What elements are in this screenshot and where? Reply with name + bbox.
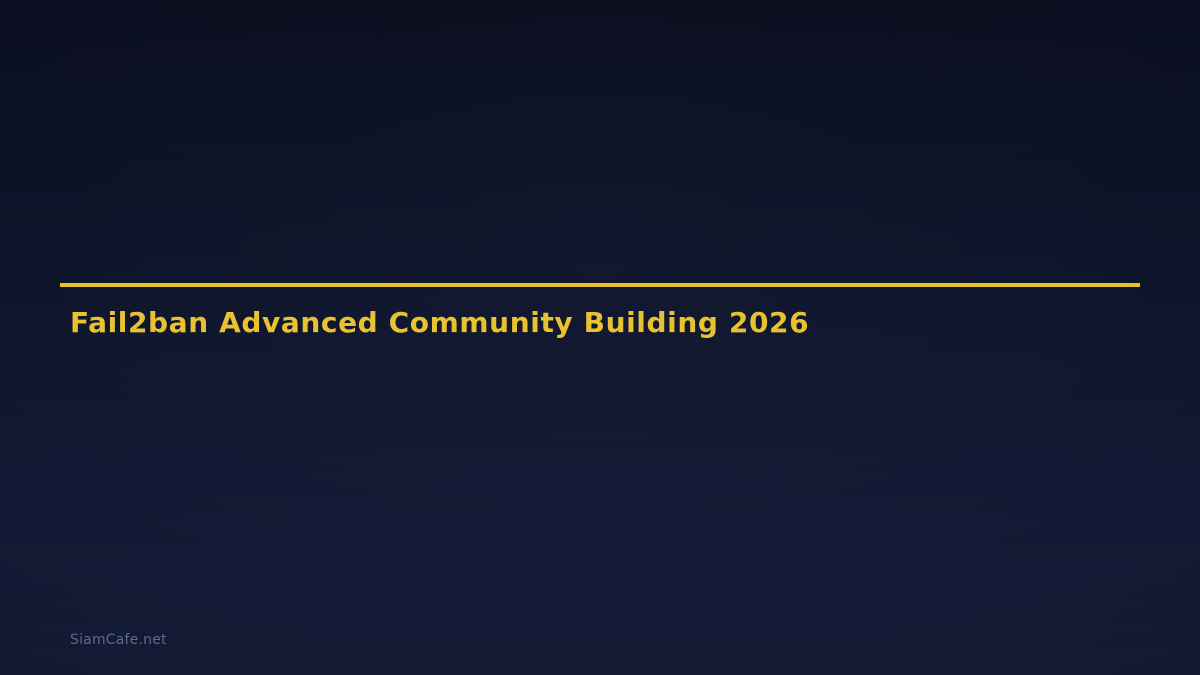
title-accent-rule (60, 283, 1140, 287)
page-title: Fail2ban Advanced Community Building 202… (70, 306, 809, 340)
footer-brand-label: SiamCafe.net (70, 630, 167, 650)
slide-canvas: Fail2ban Advanced Community Building 202… (0, 0, 1200, 675)
